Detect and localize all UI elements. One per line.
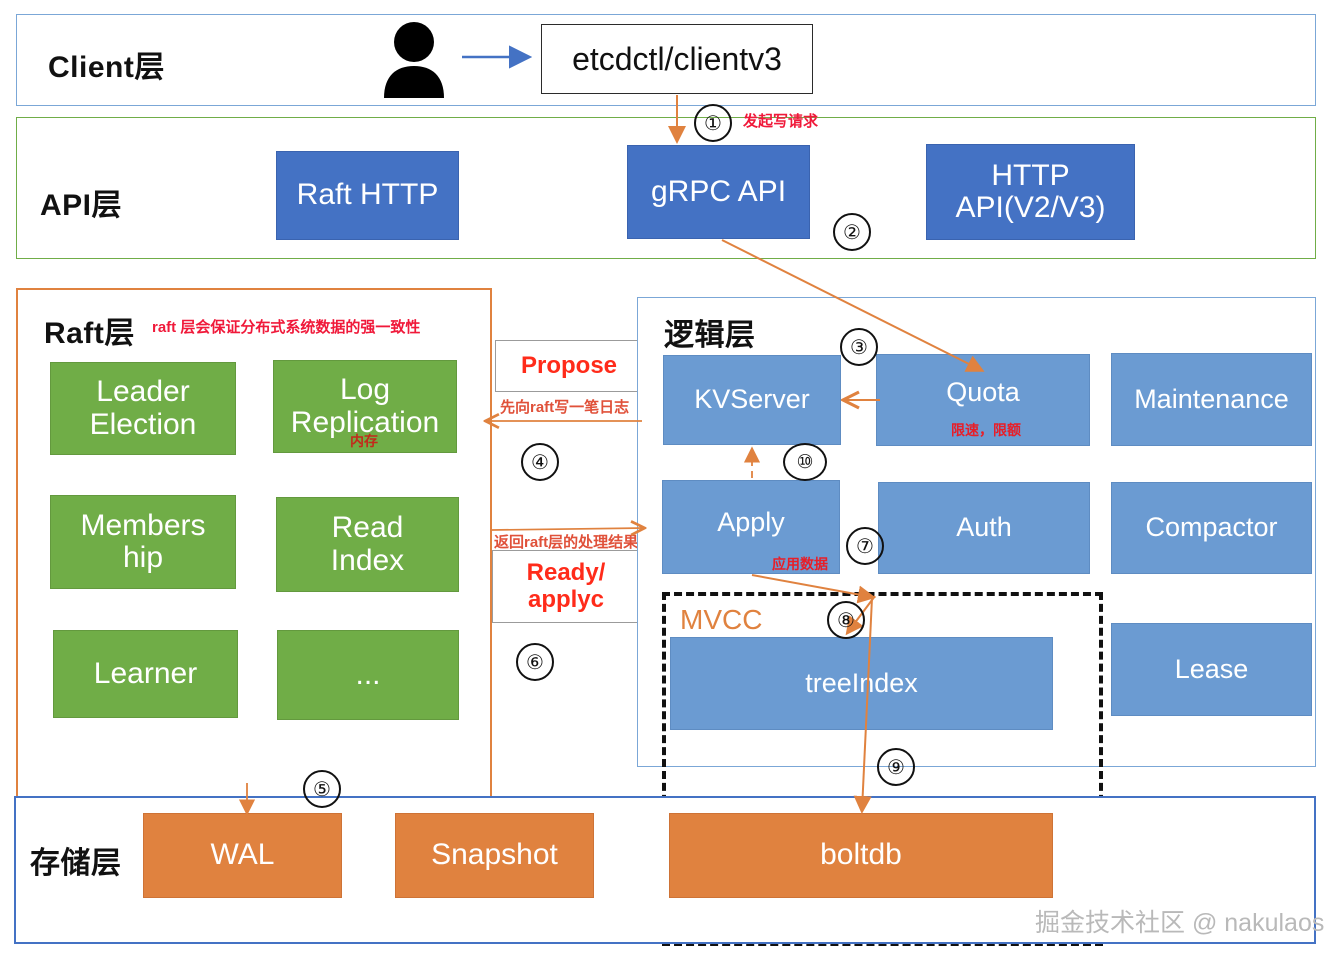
ready-note-box: Ready/ applyc <box>492 550 640 623</box>
raft-box-ellipsis[interactable]: ... <box>277 630 459 720</box>
user-icon <box>378 20 450 103</box>
storage-box-boltdb[interactable]: boltdb <box>669 813 1053 898</box>
raft-log-replication-note: 内存 <box>350 431 378 451</box>
logic-box-lease[interactable]: Lease <box>1111 623 1312 716</box>
api-box-raft-http[interactable]: Raft HTTP <box>276 151 459 240</box>
step-circle-4: ④ <box>521 443 559 481</box>
step-circle-6: ⑥ <box>516 643 554 681</box>
etcd-architecture-diagram: Client层 etcdctl/clientv3 API层 Raft HTTP … <box>0 0 1344 958</box>
raft-box-leader-election-label: Leader Election <box>90 376 197 441</box>
logic-box-maintenance-label: Maintenance <box>1134 385 1289 414</box>
step-circle-5: ⑤ <box>303 770 341 808</box>
logic-box-kvserver-label: KVServer <box>694 385 810 414</box>
logic-box-quota-label: Quota <box>946 378 1020 407</box>
raft-box-membership[interactable]: Members hip <box>50 495 236 589</box>
client-layer-label: Client层 <box>48 42 165 86</box>
api-box-http-api-label: HTTP API(V2/V3) <box>955 160 1105 225</box>
raft-box-learner[interactable]: Learner <box>53 630 238 718</box>
logic-box-auth-label: Auth <box>956 513 1012 542</box>
step-circle-10: ⑩ <box>783 443 827 481</box>
logic-box-compactor-label: Compactor <box>1145 513 1277 542</box>
etcdctl-clientv3-label: etcdctl/clientv3 <box>572 41 782 78</box>
step-circle-9: ⑨ <box>877 748 915 786</box>
storage-box-wal[interactable]: WAL <box>143 813 342 898</box>
storage-layer-label: 存储层 <box>30 838 122 882</box>
logic-box-apply-note: 应用数据 <box>772 554 828 574</box>
propose-label: Propose <box>521 353 617 379</box>
storage-box-wal-label: WAL <box>211 839 275 871</box>
logic-box-compactor[interactable]: Compactor <box>1111 482 1312 574</box>
logic-box-apply-label: Apply <box>717 508 785 537</box>
mvcc-label: MVCC <box>680 604 762 636</box>
raft-box-ellipsis-label: ... <box>355 659 380 691</box>
raft-layer-label: Raft层 <box>44 308 135 352</box>
ready-label: Ready/ applyc <box>527 560 606 613</box>
logic-box-quota-note: 限速，限额 <box>951 420 1021 440</box>
api-box-grpc-api[interactable]: gRPC API <box>627 145 810 239</box>
logic-box-kvserver[interactable]: KVServer <box>663 355 841 445</box>
logic-layer-label: 逻辑层 <box>664 310 756 354</box>
raft-box-log-replication-label: Log Replication <box>291 374 439 439</box>
logic-box-auth[interactable]: Auth <box>878 482 1090 574</box>
step-circle-3: ③ <box>840 328 878 366</box>
ready-note-text: 返回raft层的处理结果 <box>494 531 638 552</box>
raft-box-read-index-label: Read Index <box>331 512 404 577</box>
logic-box-lease-label: Lease <box>1175 655 1249 684</box>
api-layer-label: API层 <box>40 180 122 224</box>
raft-box-membership-label: Members hip <box>80 510 205 575</box>
storage-box-boltdb-label: boltdb <box>820 839 902 871</box>
storage-box-snapshot[interactable]: Snapshot <box>395 813 594 898</box>
raft-layer-note: raft 层会保证分布式系统数据的强一致性 <box>152 316 420 337</box>
raft-box-learner-label: Learner <box>94 658 197 690</box>
step-1-note: 发起写请求 <box>743 110 818 131</box>
step-circle-2: ② <box>833 213 871 251</box>
propose-note-box: Propose <box>495 340 643 392</box>
raft-box-read-index[interactable]: Read Index <box>276 497 459 592</box>
raft-box-leader-election[interactable]: Leader Election <box>50 362 236 455</box>
etcdctl-clientv3-box[interactable]: etcdctl/clientv3 <box>541 24 813 94</box>
step-circle-7: ⑦ <box>846 527 884 565</box>
step-circle-1: ① <box>694 104 732 142</box>
logic-box-maintenance[interactable]: Maintenance <box>1111 353 1312 446</box>
storage-box-snapshot-label: Snapshot <box>431 839 558 871</box>
watermark: 掘金技术社区 @ nakulaos <box>1035 903 1324 939</box>
propose-note-text: 先向raft写一笔日志 <box>500 396 629 417</box>
api-box-raft-http-label: Raft HTTP <box>297 179 439 211</box>
api-box-http-api[interactable]: HTTP API(V2/V3) <box>926 144 1135 240</box>
step-circle-8: ⑧ <box>827 601 865 639</box>
api-box-grpc-api-label: gRPC API <box>651 176 786 208</box>
